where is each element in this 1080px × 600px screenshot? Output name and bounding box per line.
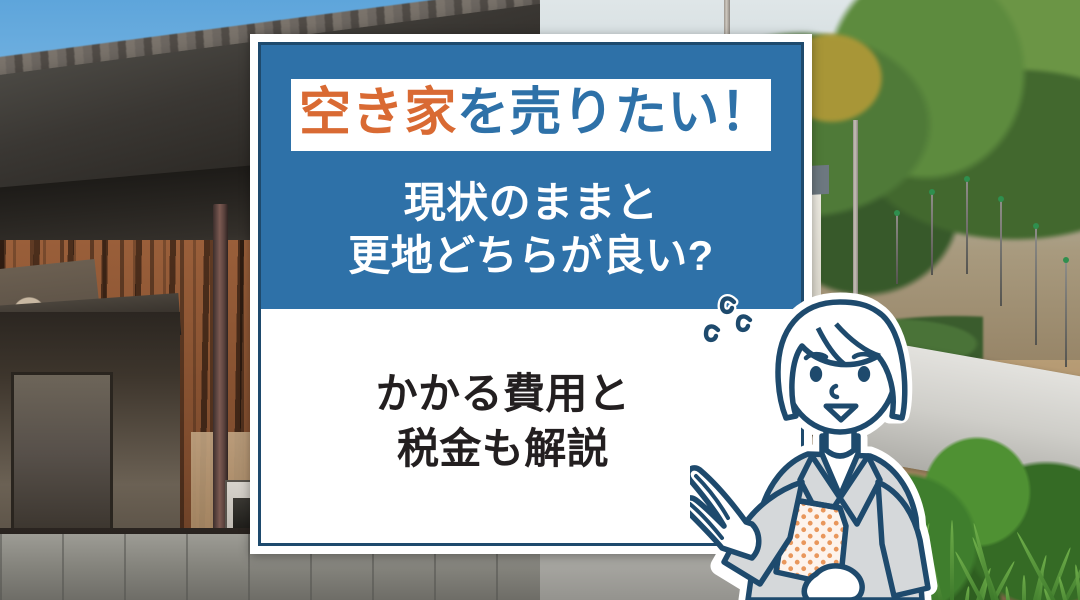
title-remainder: を売りたい！ [457, 84, 773, 142]
footnote-line-2: 税金も解説 [376, 422, 631, 477]
subtitle: 現状のままと 更地どちらが良い? [283, 177, 779, 283]
idea-sparkle-marks [706, 299, 750, 340]
subtitle-line-1: 現状のままと [283, 177, 779, 230]
card-blue-section: 空き家を売りたい！ 現状のままと 更地どちらが良い? [261, 45, 801, 309]
page-title: 空き家を売りたい！ [299, 86, 763, 141]
female-agent-illustration [690, 286, 990, 600]
title-band: 空き家を売りたい！ [291, 79, 771, 151]
footnote-line-1: かかる費用と [376, 367, 631, 422]
footnote: かかる費用と 税金も解説 [376, 367, 631, 476]
title-keyword: 空き家 [299, 84, 457, 142]
thumbnail-banner: 空き家を売りたい！ 現状のままと 更地どちらが良い? かかる費用と 税金も解説 [0, 0, 1080, 600]
subtitle-line-2: 更地どちらが良い? [283, 230, 779, 283]
broken-window [11, 372, 112, 534]
